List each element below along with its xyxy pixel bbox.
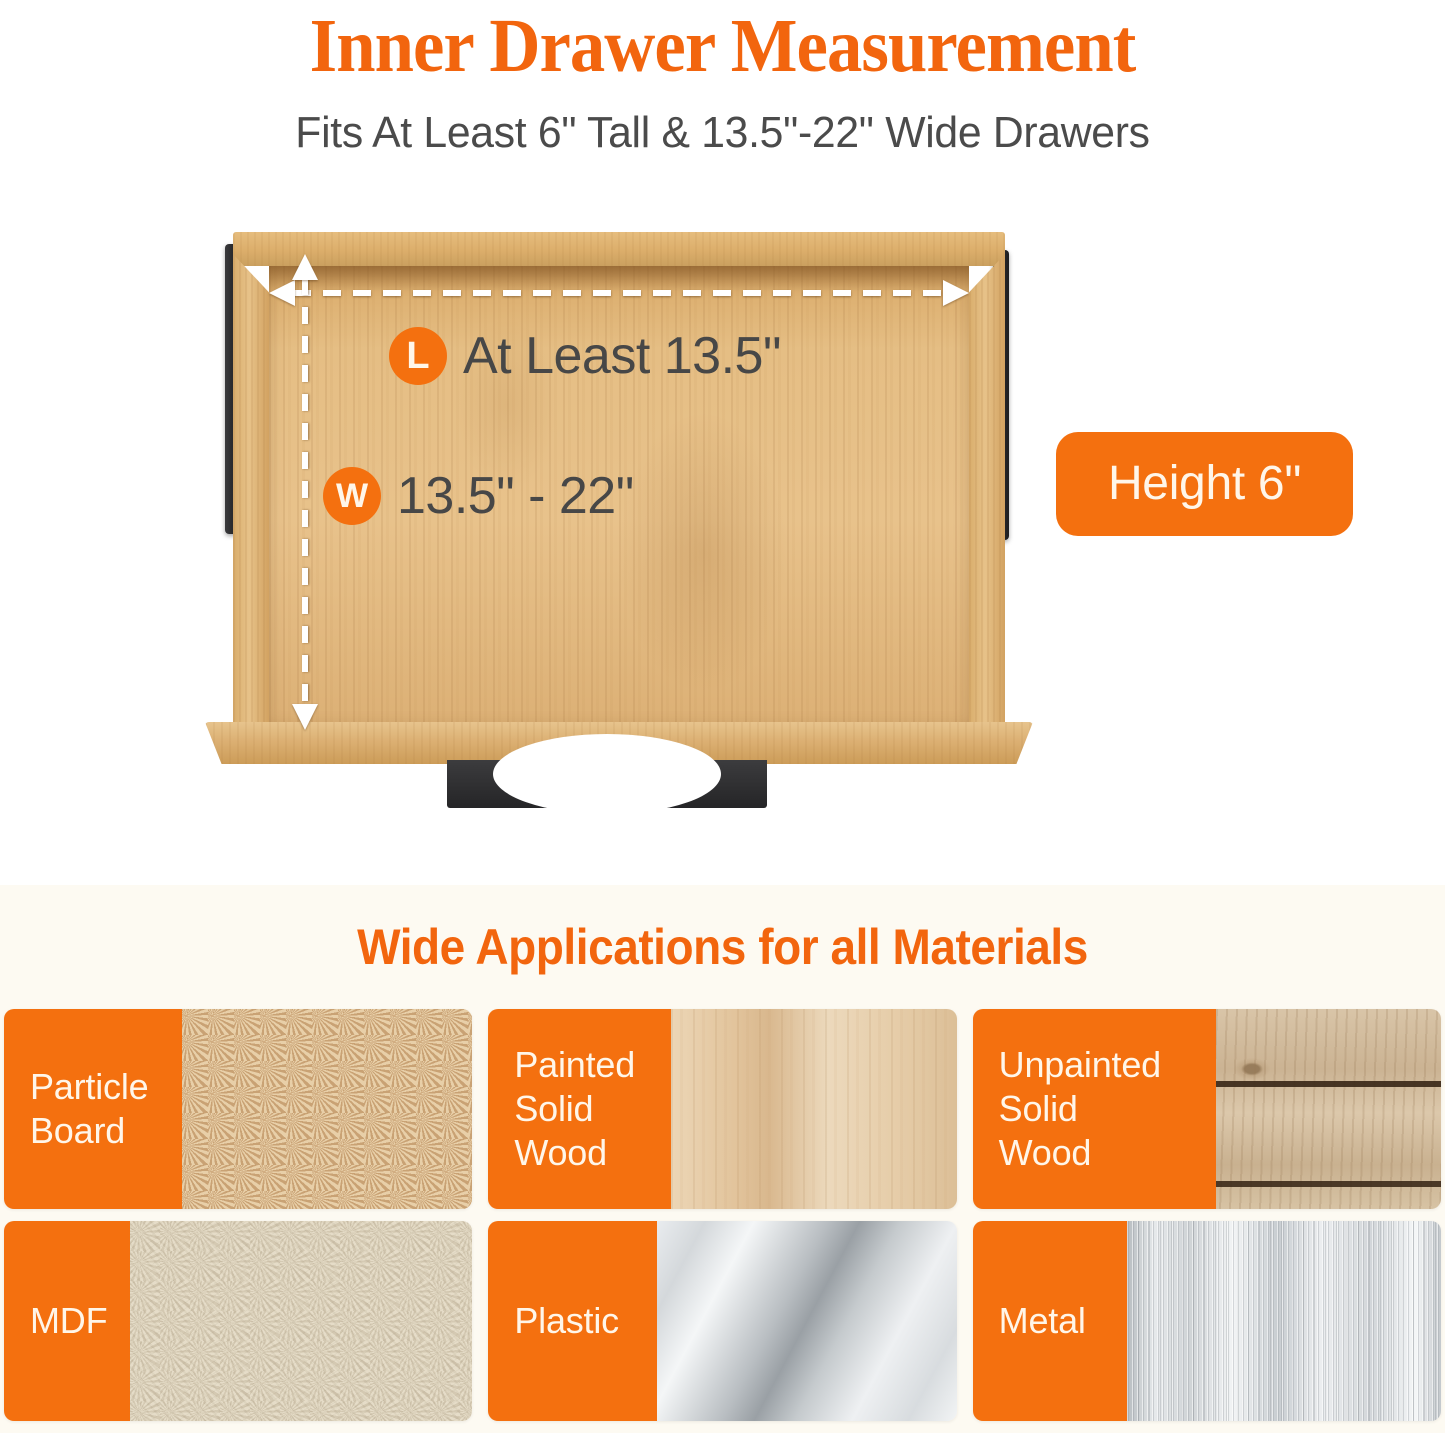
material-card: MDF (4, 1221, 472, 1421)
length-value: At Least 13.5" (463, 327, 781, 385)
length-measurement-row: L At Least 13.5" (389, 327, 781, 385)
arrow-up-icon (292, 254, 318, 280)
material-label-line: Unpainted (999, 1043, 1203, 1087)
plastic-swatch (657, 1221, 957, 1421)
material-label-line: MDF (30, 1299, 116, 1343)
height-badge: Height 6" (1056, 432, 1353, 536)
material-label: Painted Solid Wood (488, 1009, 671, 1209)
material-label-line: Wood (514, 1131, 657, 1175)
mdf-swatch (130, 1221, 472, 1421)
material-label: Particle Board (4, 1009, 182, 1209)
material-label-line: Metal (999, 1299, 1114, 1343)
material-label-line: Board (30, 1109, 168, 1153)
drawer-inner-shadow (269, 266, 969, 292)
arrow-left-icon (269, 280, 295, 306)
width-measurement-row: W 13.5" - 22" (323, 467, 634, 525)
material-card: Unpainted Solid Wood (973, 1009, 1441, 1209)
material-card: Painted Solid Wood (488, 1009, 956, 1209)
width-value: 13.5" - 22" (397, 467, 634, 525)
material-label-line: Plastic (514, 1299, 643, 1343)
painted-solid-wood-swatch (671, 1009, 957, 1209)
material-label: MDF (4, 1221, 130, 1421)
material-card: Particle Board (4, 1009, 472, 1209)
drawer-top-rim (233, 232, 1005, 266)
material-label-line: Painted (514, 1043, 657, 1087)
height-dimension-line-icon (302, 278, 308, 710)
page-title: Inner Drawer Measurement (51, 4, 1395, 88)
arrow-down-icon (292, 704, 318, 730)
materials-grid: Particle Board Painted Solid Wood Unpain… (4, 1009, 1441, 1421)
material-label-line: Wood (999, 1131, 1203, 1175)
page-subtitle: Fits At Least 6" Tall & 13.5"-22" Wide D… (22, 104, 1424, 162)
arrow-right-icon (943, 280, 969, 306)
drawer-wall-right (969, 254, 1005, 734)
metal-swatch (1127, 1221, 1441, 1421)
measurement-section: Inner Drawer Measurement Fits At Least 6… (0, 0, 1445, 885)
material-label-line: Particle (30, 1065, 168, 1109)
base-arc-cutout-icon (493, 734, 721, 814)
applications-section: Wide Applications for all Materials Part… (0, 885, 1445, 1433)
drawer-illustration: L At Least 13.5" W 13.5" - 22" (185, 222, 1065, 807)
length-badge: L (389, 327, 447, 385)
material-card: Metal (973, 1221, 1441, 1421)
material-label: Metal (973, 1221, 1128, 1421)
drawer-base-block (447, 760, 767, 808)
material-label-line: Solid (514, 1087, 657, 1131)
material-card: Plastic (488, 1221, 956, 1421)
width-dimension-line-icon (293, 290, 945, 296)
width-badge: W (323, 467, 381, 525)
particle-board-swatch (182, 1009, 472, 1209)
applications-title: Wide Applications for all Materials (58, 917, 1387, 977)
unpainted-solid-wood-swatch (1216, 1009, 1441, 1209)
drawer-wall-left (233, 254, 269, 734)
material-label-line: Solid (999, 1087, 1203, 1131)
material-label: Unpainted Solid Wood (973, 1009, 1217, 1209)
material-label: Plastic (488, 1221, 657, 1421)
